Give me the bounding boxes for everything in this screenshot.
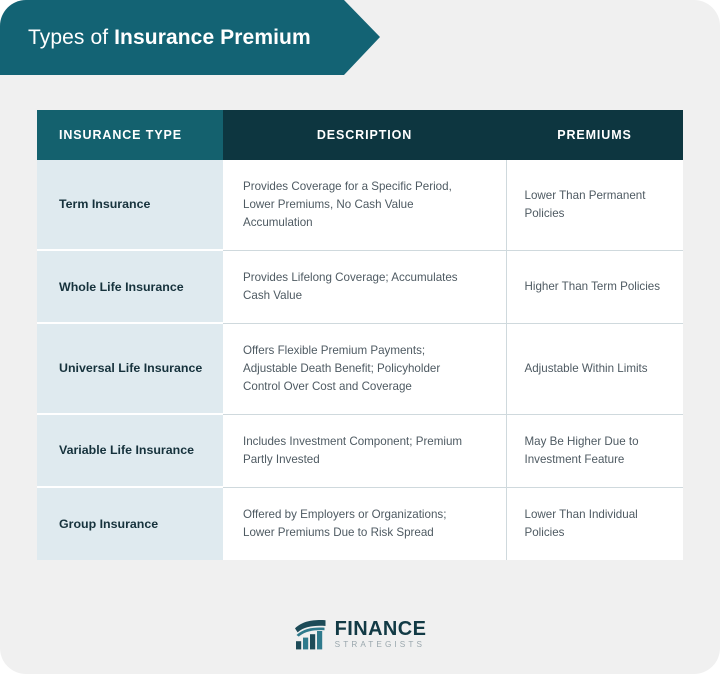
column-header-premiums: PREMIUMS bbox=[506, 110, 683, 160]
cell-description: Offers Flexible Premium Payments; Adjust… bbox=[223, 323, 506, 414]
cell-premiums: Lower Than Permanent Policies bbox=[506, 160, 683, 250]
page-title: Types of Insurance Premium bbox=[0, 26, 311, 50]
logo-sub-text: STRATEGISTS bbox=[335, 641, 427, 649]
table-header-row: INSURANCE TYPE DESCRIPTION PREMIUMS bbox=[37, 110, 683, 160]
cell-premiums: May Be Higher Due to Investment Feature bbox=[506, 414, 683, 487]
title-banner-shape: Types of Insurance Premium bbox=[0, 0, 380, 75]
table-row: Group Insurance Offered by Employers or … bbox=[37, 487, 683, 559]
insurance-premium-table: INSURANCE TYPE DESCRIPTION PREMIUMS Term… bbox=[37, 110, 683, 560]
logo-wordmark: FINANCE STRATEGISTS bbox=[335, 619, 427, 649]
table-row: Term Insurance Provides Coverage for a S… bbox=[37, 160, 683, 250]
cell-insurance-type: Universal Life Insurance bbox=[37, 323, 223, 414]
cell-insurance-type: Variable Life Insurance bbox=[37, 414, 223, 487]
cell-description: Includes Investment Component; Premium P… bbox=[223, 414, 506, 487]
title-banner: Types of Insurance Premium bbox=[0, 0, 380, 75]
cell-description: Provides Lifelong Coverage; Accumulates … bbox=[223, 250, 506, 323]
footer-logo: FINANCE STRATEGISTS bbox=[0, 612, 720, 656]
cell-premiums: Lower Than Individual Policies bbox=[506, 487, 683, 559]
finance-strategists-logo-icon bbox=[294, 619, 328, 650]
cell-description: Provides Coverage for a Specific Period,… bbox=[223, 160, 506, 250]
table-header: INSURANCE TYPE DESCRIPTION PREMIUMS bbox=[37, 110, 683, 160]
table-body: Term Insurance Provides Coverage for a S… bbox=[37, 160, 683, 560]
page-title-bold: Insurance Premium bbox=[114, 26, 311, 49]
table-row: Universal Life Insurance Offers Flexible… bbox=[37, 323, 683, 414]
column-header-insurance-type: INSURANCE TYPE bbox=[37, 110, 223, 160]
cell-premiums: Higher Than Term Policies bbox=[506, 250, 683, 323]
cell-description: Offered by Employers or Organizations; L… bbox=[223, 487, 506, 559]
column-header-description: DESCRIPTION bbox=[223, 110, 506, 160]
infographic-card: Types of Insurance Premium INSURANCE TYP… bbox=[0, 0, 720, 674]
table-row: Variable Life Insurance Includes Investm… bbox=[37, 414, 683, 487]
table-row: Whole Life Insurance Provides Lifelong C… bbox=[37, 250, 683, 323]
cell-insurance-type: Group Insurance bbox=[37, 487, 223, 559]
page-title-plain: Types of bbox=[28, 26, 114, 49]
logo-main-text: FINANCE bbox=[335, 619, 427, 639]
cell-premiums: Adjustable Within Limits bbox=[506, 323, 683, 414]
cell-insurance-type: Term Insurance bbox=[37, 160, 223, 250]
cell-insurance-type: Whole Life Insurance bbox=[37, 250, 223, 323]
